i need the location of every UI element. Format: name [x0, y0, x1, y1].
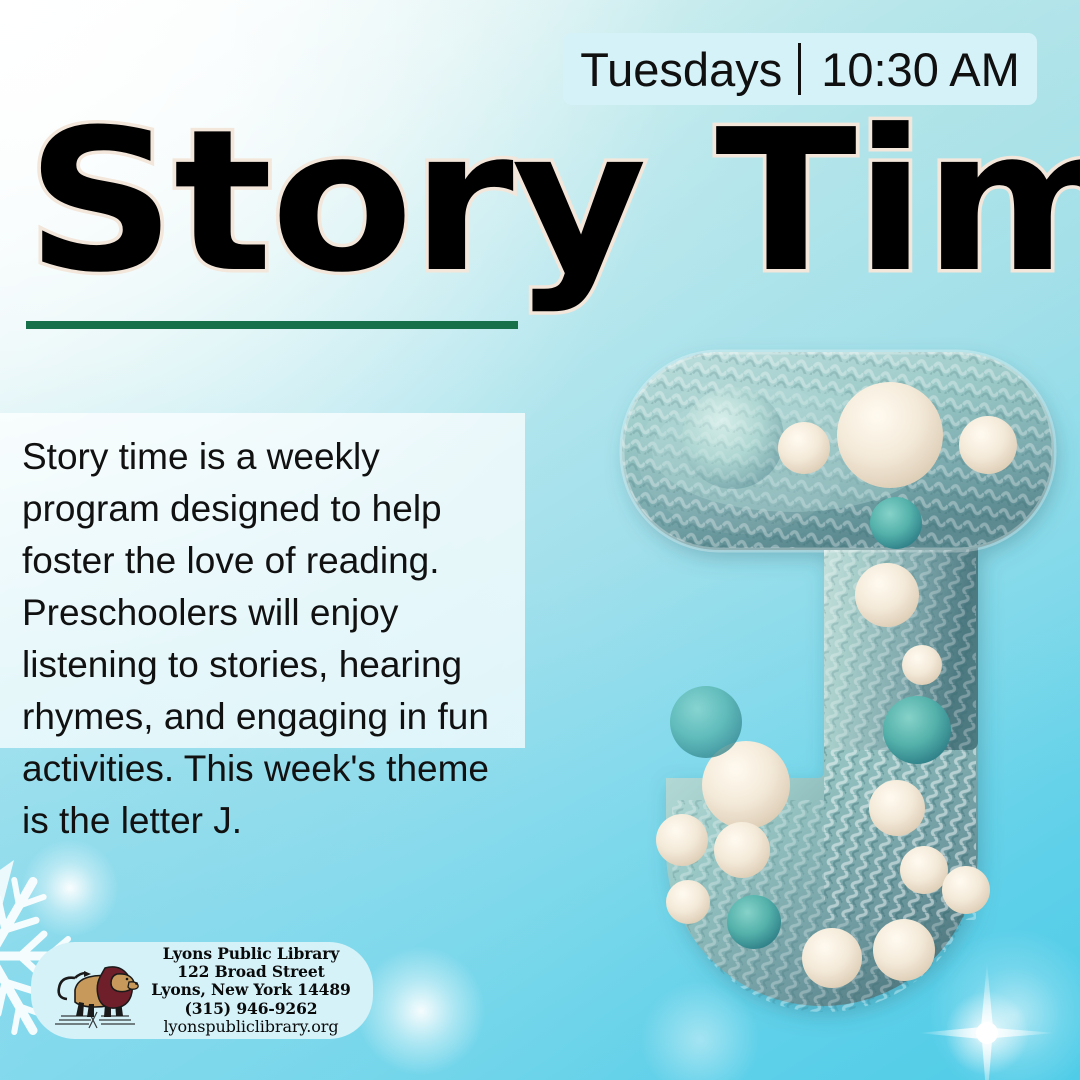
library-contact-card: Lyons Public Library 122 Broad Street Ly… — [31, 942, 373, 1039]
description-panel: Story time is a weekly program designed … — [0, 413, 525, 748]
title-divider — [26, 321, 518, 329]
schedule-day: Tuesdays — [580, 46, 798, 93]
page-title: Story Time — [26, 104, 1080, 300]
library-contact-text: Lyons Public Library 122 Broad Street Ly… — [141, 945, 373, 1036]
poster-canvas: Tuesdays 10:30 AM Story Time Story time … — [0, 0, 1080, 1080]
contact-line: Lyons, New York 14489 — [141, 981, 361, 999]
description-text: Story time is a weekly program designed … — [22, 431, 520, 847]
schedule-time: 10:30 AM — [801, 46, 1020, 93]
contact-line: Lyons Public Library — [141, 945, 361, 963]
contact-line: 122 Broad Street — [141, 963, 361, 981]
contact-line: (315) 946-9262 — [141, 1000, 361, 1018]
contact-website: lyonspubliclibrary.org — [141, 1018, 361, 1036]
lion-logo — [45, 950, 141, 1032]
crochet-letter-j-artwork — [492, 330, 1080, 1050]
